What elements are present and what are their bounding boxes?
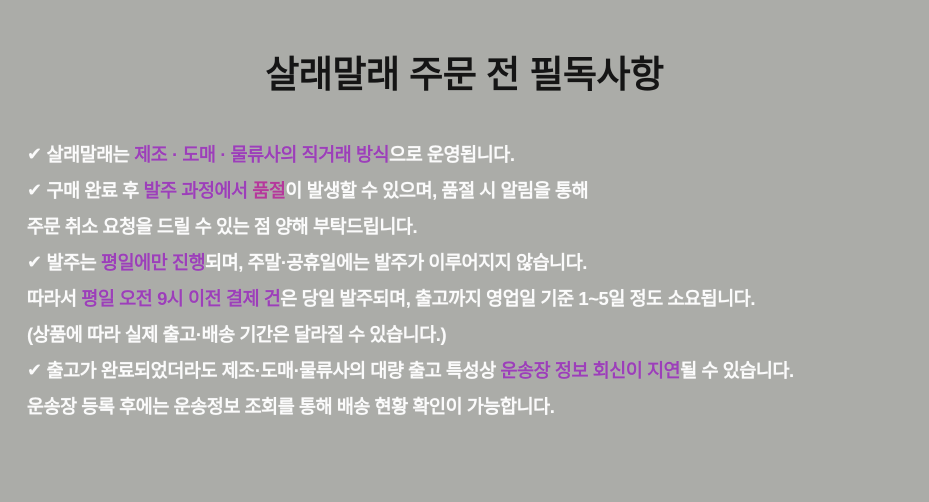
notice-text-segment: 구매 완료 후	[47, 180, 144, 201]
notice-bullet-line: ✔출고가 완료되었더라도 제조·도매·물류사의 대량 출고 특성상 운송장 정보…	[27, 353, 922, 389]
check-icon: ✔	[27, 172, 42, 208]
notice-body: ✔살래말래는 제조 · 도매 · 물류사의 직거래 방식으로 운영됩니다.✔구매…	[27, 137, 922, 425]
notice-card: 살래말래 주문 전 필독사항 ✔살래말래는 제조 · 도매 · 물류사의 직거래…	[0, 0, 929, 502]
check-icon: ✔	[27, 352, 42, 388]
notice-text-segment: 이 발생할 수 있으며, 품절 시 알림을 통해	[286, 180, 589, 201]
notice-highlight-segment: 발주 과정에서	[144, 180, 253, 201]
notice-text-segment: 살래말래는	[47, 144, 135, 165]
notice-highlight-segment: 평일에만 진행	[101, 252, 205, 273]
notice-text-segment: 따라서	[27, 288, 81, 309]
notice-text-segment: 출고가 완료되었더라도 제조·도매·물류사의 대량 출고 특성상	[47, 360, 501, 381]
notice-continuation-line: 운송장 등록 후에는 운송정보 조회를 통해 배송 현황 확인이 가능합니다.	[27, 389, 922, 425]
check-icon: ✔	[27, 244, 42, 280]
notice-bullet-line: ✔구매 완료 후 발주 과정에서 품절이 발생할 수 있으며, 품절 시 알림을…	[27, 173, 922, 209]
notice-bullet-line: ✔발주는 평일에만 진행되며, 주말·공휴일에는 발주가 이루어지지 않습니다.	[27, 245, 922, 281]
notice-text-segment: (상품에 따라 실제 출고·배송 기간은 달라질 수 있습니다.)	[27, 324, 446, 345]
notice-text-segment: 으로 운영됩니다.	[389, 144, 514, 165]
page-title: 살래말래 주문 전 필독사항	[0, 56, 929, 93]
notice-highlight-segment: 운송장 정보 회신이 지연	[500, 360, 680, 381]
notice-highlight-segment: 품절	[252, 180, 285, 201]
notice-text-segment: 주문 취소 요청을 드릴 수 있는 점 양해 부탁드립니다.	[27, 216, 417, 237]
check-icon: ✔	[27, 136, 42, 172]
notice-continuation-line: 주문 취소 요청을 드릴 수 있는 점 양해 부탁드립니다.	[27, 209, 922, 245]
notice-text-segment: 운송장 등록 후에는 운송정보 조회를 통해 배송 현황 확인이 가능합니다.	[27, 396, 554, 417]
notice-text-segment: 은 당일 발주되며, 출고까지 영업일 기준 1~5일 정도 소요됩니다.	[280, 288, 755, 309]
notice-highlight-segment: 제조 · 도매 · 물류사의 직거래 방식	[134, 144, 389, 165]
notice-continuation-line: (상품에 따라 실제 출고·배송 기간은 달라질 수 있습니다.)	[27, 317, 922, 353]
notice-bullet-line: ✔살래말래는 제조 · 도매 · 물류사의 직거래 방식으로 운영됩니다.	[27, 137, 922, 173]
notice-text-segment: 될 수 있습니다.	[680, 360, 794, 381]
notice-text-segment: 발주는	[47, 252, 101, 273]
notice-continuation-line: 따라서 평일 오전 9시 이전 결제 건은 당일 발주되며, 출고까지 영업일 …	[27, 281, 922, 317]
notice-highlight-segment: 평일 오전 9시 이전 결제 건	[81, 288, 280, 309]
notice-text-segment: 되며, 주말·공휴일에는 발주가 이루어지지 않습니다.	[205, 252, 587, 273]
